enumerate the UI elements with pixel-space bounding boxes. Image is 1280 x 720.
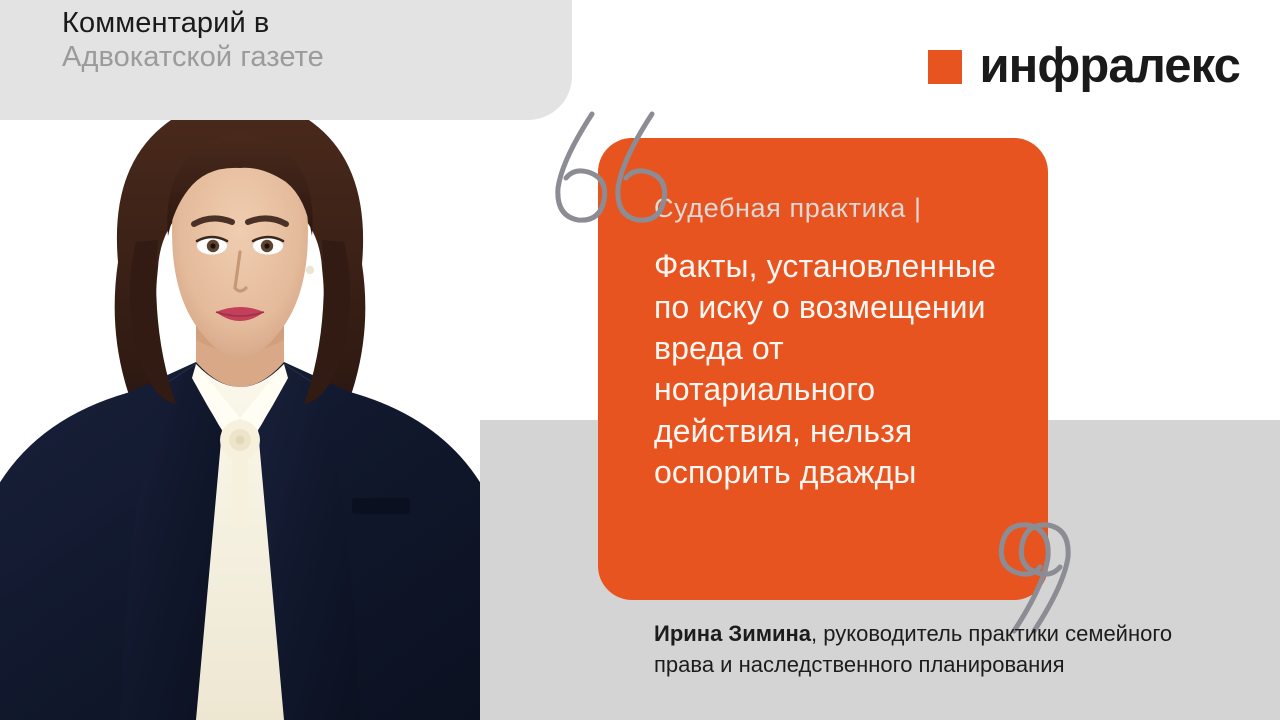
speaker-caption: Ирина Зимина, руководитель практики семе… (654, 618, 1214, 680)
quote-body: Факты, установленные по иску о возмещени… (654, 246, 1008, 494)
header-title: Комментарий в Адвокатской газете (62, 6, 532, 74)
quote-card: Судебная практика | Факты, установленные… (598, 138, 1048, 600)
logo-wordmark: инфралекс (979, 42, 1240, 91)
slide-canvas: Комментарий в Адвокатской газете инфрале… (0, 0, 1280, 720)
header-title-line1: Комментарий в (62, 6, 532, 40)
speaker-name: Ирина Зимина (654, 621, 811, 646)
brand-logo[interactable]: инфралекс (928, 42, 1240, 91)
header-title-line2: Адвокатской газете (62, 40, 532, 74)
logo-square-icon (928, 50, 962, 84)
quote-kicker: Судебная практика | (654, 194, 1008, 224)
